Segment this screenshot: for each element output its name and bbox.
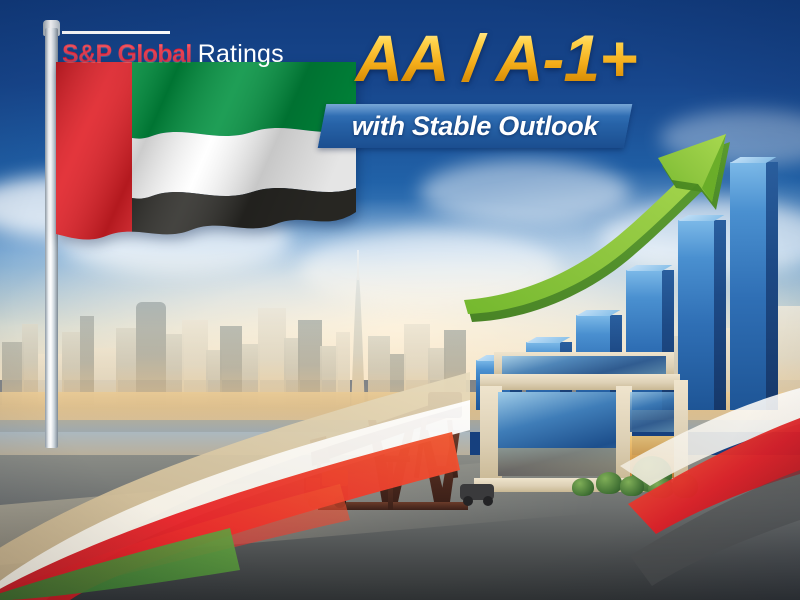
promo-graphic: S&P GlobalRatings AA / A-1+ with Stable … bbox=[0, 0, 800, 600]
vignette-overlay bbox=[0, 0, 800, 600]
